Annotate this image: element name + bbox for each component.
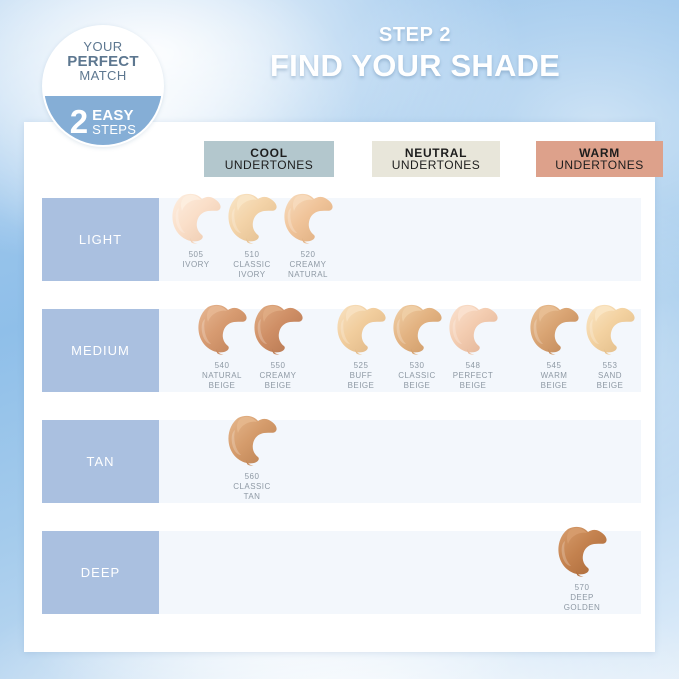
tier-row-deep: DEEP570DEEP GOLDEN xyxy=(24,531,655,614)
undertone-sublabel: UNDERTONES xyxy=(392,159,481,171)
tier-label-medium: MEDIUM xyxy=(42,309,159,392)
shade-code: 553 xyxy=(597,361,624,371)
badge-line-your: YOUR xyxy=(83,40,122,54)
undertone-chip-warm: WARMUNDERTONES xyxy=(536,141,663,177)
tier-row-medium: MEDIUM540NATURAL BEIGE550CREAMY BEIGE525… xyxy=(24,309,655,392)
undertone-chip-neutral: NEUTRALUNDERTONES xyxy=(372,141,500,177)
shade-swatch-553[interactable]: 553SAND BEIGE xyxy=(580,297,640,390)
foundation-swatch-icon xyxy=(582,297,638,359)
shade-swatch-510[interactable]: 510CLASSIC IVORY xyxy=(222,186,282,279)
shade-code: 560 xyxy=(233,472,270,482)
shade-meta: 553SAND BEIGE xyxy=(597,361,624,390)
foundation-swatch-icon xyxy=(554,519,610,581)
shade-code: 525 xyxy=(348,361,375,371)
shade-name: SAND BEIGE xyxy=(597,371,624,391)
shade-swatch-548[interactable]: 548PERFECT BEIGE xyxy=(443,297,503,390)
undertone-chip-cool: COOLUNDERTONES xyxy=(204,141,334,177)
shade-name: CLASSIC TAN xyxy=(233,482,270,502)
badge-bottom-half: 2 EASY STEPS xyxy=(44,96,162,145)
tier-row-tan: TAN560CLASSIC TAN xyxy=(24,420,655,503)
shade-name: NATURAL BEIGE xyxy=(202,371,242,391)
shade-meta: 560CLASSIC TAN xyxy=(233,472,270,501)
shade-name: PERFECT BEIGE xyxy=(453,371,494,391)
shade-meta: 510CLASSIC IVORY xyxy=(233,250,270,279)
foundation-swatch-icon xyxy=(526,297,582,359)
foundation-swatch-icon xyxy=(389,297,445,359)
shade-code: 505 xyxy=(183,250,210,260)
shade-meta: 525BUFF BEIGE xyxy=(348,361,375,390)
badge-line-match: MATCH xyxy=(79,69,126,83)
shade-swatch-545[interactable]: 545WARM BEIGE xyxy=(524,297,584,390)
shade-name: CREAMY NATURAL xyxy=(288,260,328,280)
foundation-swatch-icon xyxy=(445,297,501,359)
shade-swatch-520[interactable]: 520CREAMY NATURAL xyxy=(278,186,338,279)
shade-meta: 540NATURAL BEIGE xyxy=(202,361,242,390)
shade-swatch-505[interactable]: 505IVORY xyxy=(166,186,226,270)
shade-name: CREAMY BEIGE xyxy=(260,371,297,391)
shade-code: 520 xyxy=(288,250,328,260)
tier-row-light: LIGHT505IVORY510CLASSIC IVORY520CREAMY N… xyxy=(24,198,655,281)
shade-code: 570 xyxy=(564,583,601,593)
shade-chart-panel: COOLUNDERTONESNEUTRALUNDERTONESWARMUNDER… xyxy=(24,122,655,652)
badge-line-perfect: PERFECT xyxy=(67,54,138,70)
shade-name: IVORY xyxy=(183,260,210,270)
header: STEP 2 FIND YOUR SHADE xyxy=(180,24,650,82)
tier-label-text: LIGHT xyxy=(79,232,122,247)
tier-label-light: LIGHT xyxy=(42,198,159,281)
tier-label-text: MEDIUM xyxy=(71,343,130,358)
foundation-swatch-icon xyxy=(194,297,250,359)
shade-meta: 505IVORY xyxy=(183,250,210,270)
shade-code: 540 xyxy=(202,361,242,371)
shade-name: BUFF BEIGE xyxy=(348,371,375,391)
tier-label-tan: TAN xyxy=(42,420,159,503)
shade-meta: 570DEEP GOLDEN xyxy=(564,583,601,612)
badge-top-half: YOUR PERFECT MATCH xyxy=(44,27,162,96)
shade-code: 548 xyxy=(453,361,494,371)
infographic-canvas: STEP 2 FIND YOUR SHADE YOUR PERFECT MATC… xyxy=(0,0,679,679)
shade-code: 510 xyxy=(233,250,270,260)
shade-swatch-525[interactable]: 525BUFF BEIGE xyxy=(331,297,391,390)
shade-swatch-530[interactable]: 530CLASSIC BEIGE xyxy=(387,297,447,390)
page-title: FIND YOUR SHADE xyxy=(180,49,650,82)
foundation-swatch-icon xyxy=(250,297,306,359)
foundation-swatch-icon xyxy=(333,297,389,359)
shade-swatch-540[interactable]: 540NATURAL BEIGE xyxy=(192,297,252,390)
shade-code: 545 xyxy=(541,361,568,371)
perfect-match-badge: YOUR PERFECT MATCH 2 EASY STEPS xyxy=(42,25,164,147)
shade-code: 550 xyxy=(260,361,297,371)
tier-label-text: TAN xyxy=(86,454,114,469)
shade-meta: 530CLASSIC BEIGE xyxy=(398,361,435,390)
foundation-swatch-icon xyxy=(224,186,280,248)
undertone-sublabel: UNDERTONES xyxy=(225,159,314,171)
badge-steps-label: STEPS xyxy=(92,123,136,136)
badge-steps-group: EASY STEPS xyxy=(92,108,136,136)
shade-name: DEEP GOLDEN xyxy=(564,593,601,613)
shade-name: CLASSIC BEIGE xyxy=(398,371,435,391)
badge-easy-label: EASY xyxy=(92,108,134,123)
tier-label-deep: DEEP xyxy=(42,531,159,614)
shade-meta: 550CREAMY BEIGE xyxy=(260,361,297,390)
shade-meta: 545WARM BEIGE xyxy=(541,361,568,390)
shade-meta: 548PERFECT BEIGE xyxy=(453,361,494,390)
step-label: STEP 2 xyxy=(180,24,650,46)
foundation-swatch-icon xyxy=(280,186,336,248)
shade-code: 530 xyxy=(398,361,435,371)
undertone-sublabel: UNDERTONES xyxy=(555,159,644,171)
shade-name: WARM BEIGE xyxy=(541,371,568,391)
shade-meta: 520CREAMY NATURAL xyxy=(288,250,328,279)
foundation-swatch-icon xyxy=(224,408,280,470)
shade-swatch-550[interactable]: 550CREAMY BEIGE xyxy=(248,297,308,390)
shade-swatch-560[interactable]: 560CLASSIC TAN xyxy=(222,408,282,501)
tier-label-text: DEEP xyxy=(81,565,120,580)
shade-swatch-570[interactable]: 570DEEP GOLDEN xyxy=(552,519,612,612)
foundation-swatch-icon xyxy=(168,186,224,248)
shade-name: CLASSIC IVORY xyxy=(233,260,270,280)
badge-number: 2 xyxy=(70,107,88,137)
